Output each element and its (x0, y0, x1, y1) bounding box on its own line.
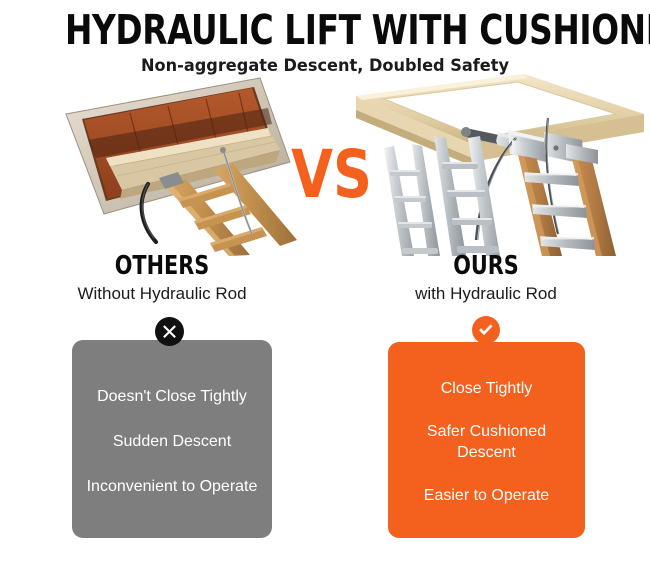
ours-point: Descent (398, 442, 575, 463)
others-point: Inconvenient to Operate (82, 476, 262, 497)
check-circle-icon (472, 316, 500, 344)
ours-point: Easier to Operate (398, 485, 575, 506)
wooden-attic-ladder-without-hydraulic-rod-image (18, 66, 318, 256)
ours-subheading: with Hydraulic Rod (366, 283, 606, 305)
others-heading: OTHERS (82, 252, 242, 280)
versus-label: VS (291, 142, 365, 208)
others-point: Sudden Descent (82, 431, 262, 452)
ours-benefits-panel: Close Tightly Safer Cushioned Descent Ea… (388, 342, 585, 538)
ours-point: Close Tightly (398, 378, 575, 399)
ours-heading: OURS (406, 252, 566, 280)
cross-circle-icon (155, 317, 184, 346)
others-subheading: Without Hydraulic Rod (42, 283, 282, 305)
ours-point: Safer Cushioned (398, 421, 575, 442)
comparison-infographic: HYDRAULIC LIFT WITH CUSHIONING Non-aggre… (0, 0, 650, 581)
others-drawbacks-panel: Doesn't Close Tightly Sudden Descent Inc… (72, 340, 272, 538)
others-point: Doesn't Close Tightly (82, 386, 262, 407)
page-title: HYDRAULIC LIFT WITH CUSHIONING (65, 8, 585, 52)
aluminum-attic-ladder-with-hydraulic-rod-image (348, 66, 644, 256)
